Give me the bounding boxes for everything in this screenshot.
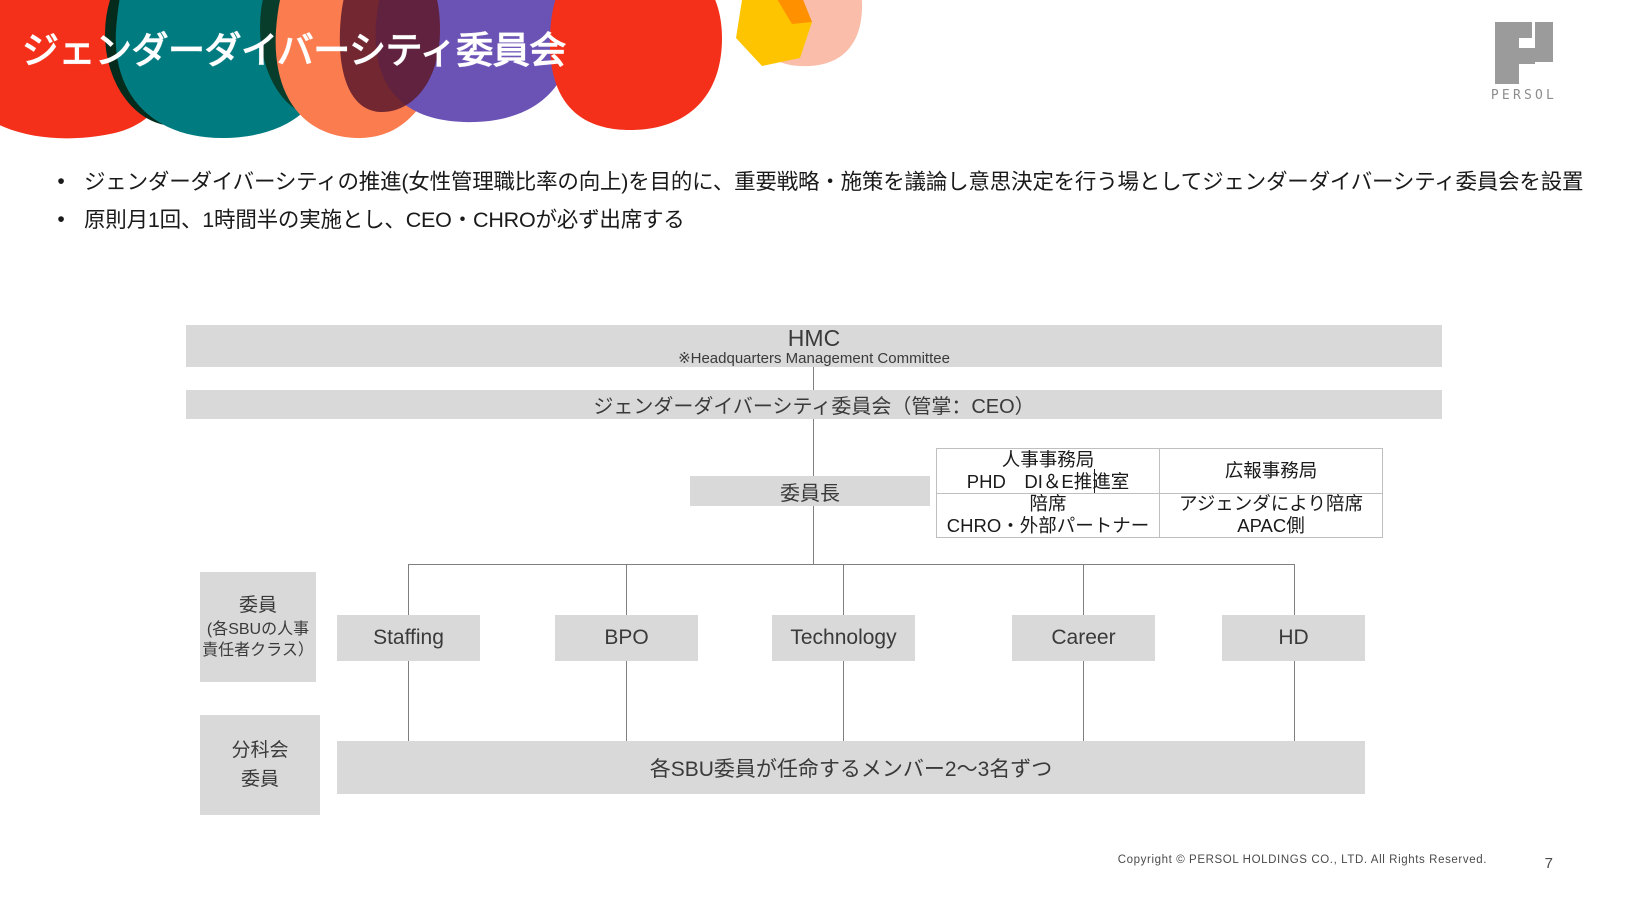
secretariat-cell-line1: アジェンダにより陪席 — [1179, 493, 1363, 515]
bullet-marker-icon: • — [38, 166, 84, 198]
text-cursor-caret — [1094, 469, 1095, 494]
bullet-text: 原則月1回、1時間半の実施とし、CEO・CHROが必ず出席する — [84, 204, 685, 236]
connector-hmc-to-committee — [813, 367, 814, 390]
bullet-item: • ジェンダーダイバーシティの推進(女性管理職比率の向上)を目的に、重要戦略・施… — [38, 166, 1598, 198]
connector-bus-horizontal — [408, 564, 1295, 565]
label-members-main: 委員 — [239, 593, 277, 619]
label-subcommittee-members: 分科会 委員 — [200, 715, 320, 815]
node-chairperson[interactable]: 委員長 — [690, 476, 930, 506]
secretariat-table: 人事事務局 PHD DI＆E推進室 広報事務局 陪席 CHRO・外部パートナー … — [937, 449, 1383, 538]
node-sbu-hd[interactable]: HD — [1222, 615, 1365, 661]
node-sbu-bpo[interactable]: BPO — [555, 615, 698, 661]
secretariat-cell-agenda-observer[interactable]: アジェンダにより陪席 APAC側 — [1159, 493, 1383, 539]
label-committee-members: 委員 (各SBUの人事責任者クラス） — [200, 572, 316, 682]
node-appointed-members-bar[interactable]: 各SBU委員が任命するメンバー2〜3名ずつ — [337, 741, 1365, 794]
persol-logo: PERSOL — [1481, 22, 1567, 108]
connector-drop-bpo — [626, 564, 627, 615]
secretariat-cell-line2: CHRO・外部パートナー — [947, 515, 1149, 537]
secretariat-cell-line1: 人事事務局 — [1002, 449, 1095, 471]
connector-drop-career — [1083, 564, 1084, 615]
connector-committee-to-chair — [813, 419, 814, 476]
bullet-text: ジェンダーダイバーシティの推進(女性管理職比率の向上)を目的に、重要戦略・施策を… — [84, 166, 1583, 198]
connector-drop-staffing — [408, 564, 409, 615]
bullet-list: • ジェンダーダイバーシティの推進(女性管理職比率の向上)を目的に、重要戦略・施… — [38, 166, 1598, 242]
connector-hd-to-bottom — [1294, 661, 1295, 741]
connector-drop-technology — [843, 564, 844, 615]
secretariat-cell-observer[interactable]: 陪席 CHRO・外部パートナー — [936, 493, 1160, 539]
persol-logo-mark — [1495, 22, 1553, 84]
persol-wordmark: PERSOL — [1481, 88, 1567, 103]
hmc-subtitle: ※Headquarters Management Committee — [678, 350, 950, 367]
label-subcommittee-line2: 委員 — [241, 765, 279, 794]
node-gender-diversity-committee[interactable]: ジェンダーダイバーシティ委員会（管掌：CEO） — [186, 390, 1442, 419]
footer-copyright: Copyright © PERSOL HOLDINGS CO., LTD. Al… — [1118, 854, 1487, 866]
connector-staffing-to-bottom — [408, 661, 409, 741]
connector-chair-to-bus — [813, 506, 814, 564]
node-sbu-staffing[interactable]: Staffing — [337, 615, 480, 661]
connector-bpo-to-bottom — [626, 661, 627, 741]
page-number: 7 — [1545, 855, 1553, 872]
connector-technology-to-bottom — [843, 661, 844, 741]
hmc-title: HMC — [788, 326, 840, 350]
connector-career-to-bottom — [1083, 661, 1084, 741]
page-title: ジェンダーダイバーシティ委員会 — [22, 20, 566, 74]
deco-blob-red-right — [550, 0, 722, 130]
bullet-marker-icon: • — [38, 204, 84, 236]
secretariat-cell-line1: 陪席 — [1029, 493, 1066, 515]
connector-drop-hd — [1294, 564, 1295, 615]
label-members-sub: (各SBUの人事責任者クラス） — [202, 619, 314, 661]
node-sbu-technology[interactable]: Technology — [772, 615, 915, 661]
bullet-item: • 原則月1回、1時間半の実施とし、CEO・CHROが必ず出席する — [38, 204, 1598, 236]
node-sbu-career[interactable]: Career — [1012, 615, 1155, 661]
secretariat-cell-line2: PHD DI＆E推進室 — [967, 471, 1129, 493]
secretariat-cell-hr-office[interactable]: 人事事務局 PHD DI＆E推進室 — [936, 448, 1160, 494]
node-hmc[interactable]: HMC ※Headquarters Management Committee — [186, 325, 1442, 367]
secretariat-cell-line1: 広報事務局 — [1225, 460, 1318, 482]
header-band: ジェンダーダイバーシティ委員会 PERSOL — [0, 0, 1625, 148]
secretariat-cell-line2: APAC側 — [1237, 515, 1305, 537]
label-subcommittee-line1: 分科会 — [231, 736, 288, 765]
secretariat-cell-pr-office[interactable]: 広報事務局 — [1159, 448, 1383, 494]
